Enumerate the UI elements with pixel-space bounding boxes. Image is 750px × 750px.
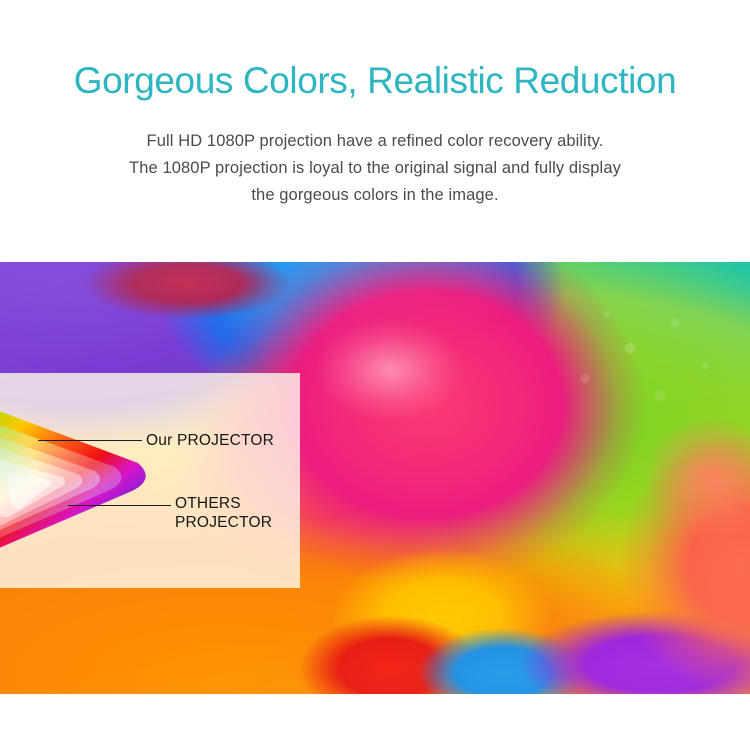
gamut-comparison-panel <box>0 373 300 588</box>
color-gamut-triangle-diagram <box>0 379 174 584</box>
leader-line-others-projector <box>68 505 171 506</box>
leader-line-our-projector <box>38 440 142 441</box>
description-line-2: The 1080P projection is loyal to the ori… <box>0 155 750 182</box>
description-line-1: Full HD 1080P projection have a refined … <box>0 128 750 155</box>
header-text-block: Gorgeous Colors, Realistic Reduction Ful… <box>0 0 750 262</box>
label-our-projector: Our PROJECTOR <box>146 431 274 450</box>
page-title: Gorgeous Colors, Realistic Reduction <box>0 62 750 101</box>
gamut-layer-group <box>0 389 146 564</box>
label-others-projector: OTHERS PROJECTOR <box>175 494 272 532</box>
footer-whitespace <box>0 694 750 750</box>
gamut-diagram-stage <box>0 373 300 588</box>
hero-paint-image <box>0 262 750 694</box>
description-paragraph: Full HD 1080P projection have a refined … <box>0 101 750 209</box>
description-line-3: the gorgeous colors in the image. <box>0 182 750 209</box>
